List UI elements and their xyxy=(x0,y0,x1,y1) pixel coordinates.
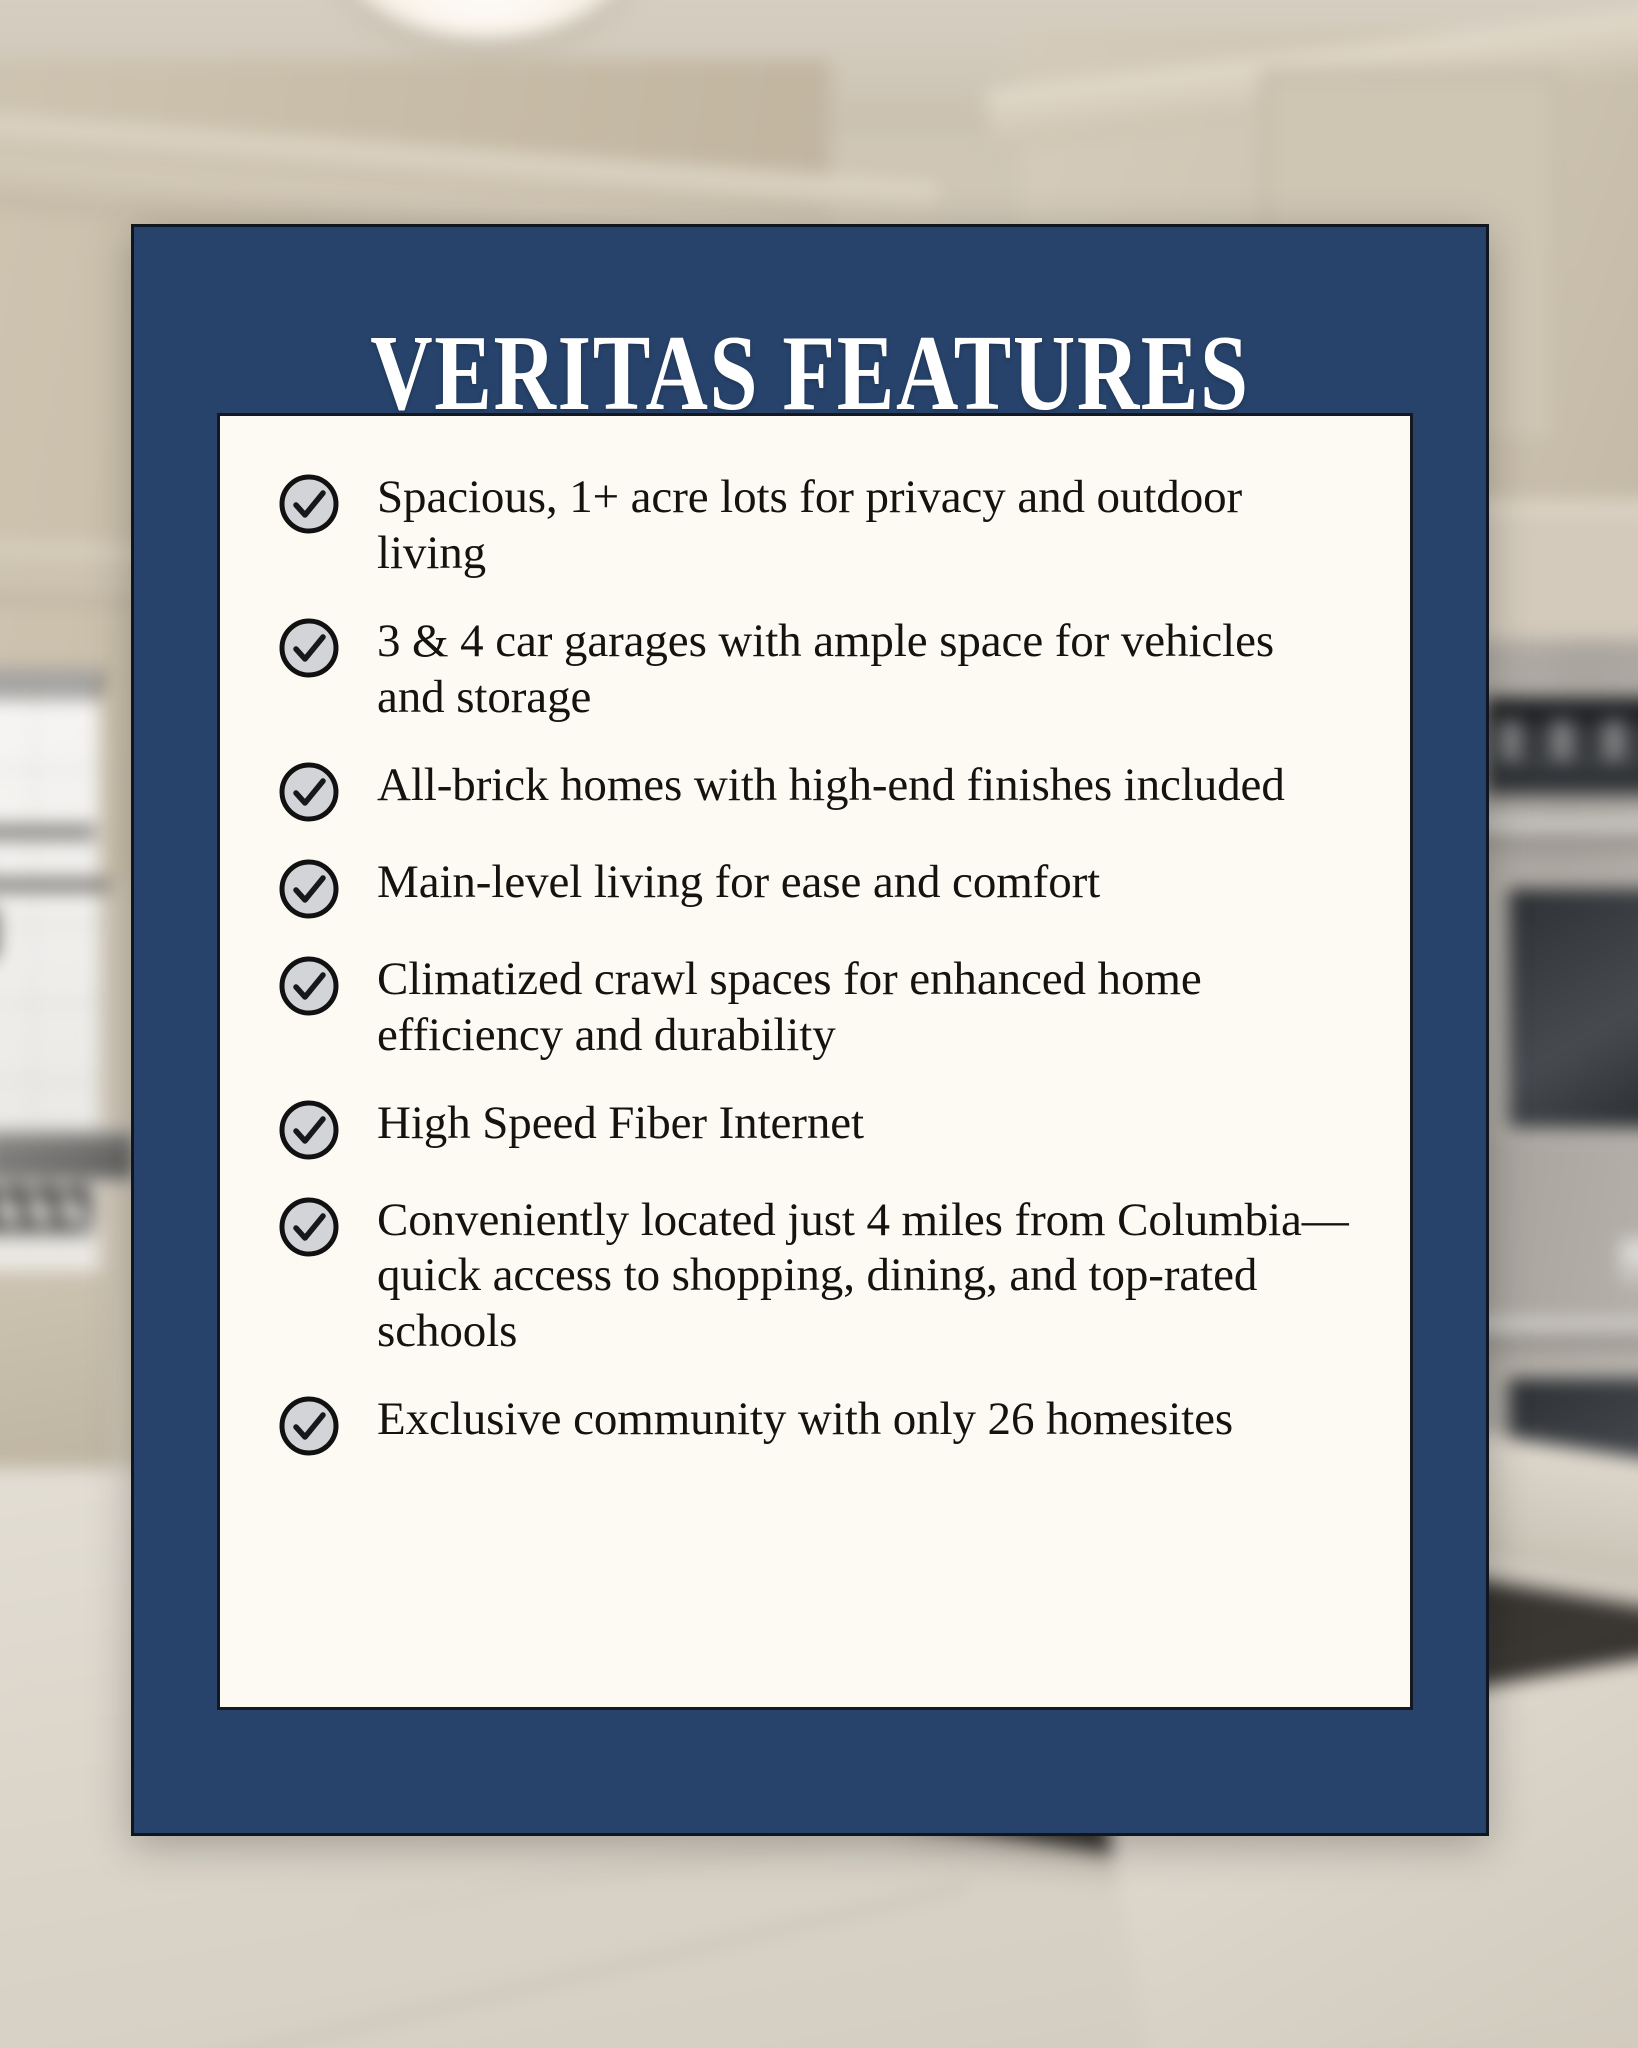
features-card: VERITAS FEATURES Spacious, 1+ acre lots … xyxy=(131,224,1489,1836)
oven-knob xyxy=(1620,1240,1638,1286)
list-item-label: All-brick homes with high-end finishes i… xyxy=(377,756,1285,814)
list-item-label: 3 & 4 car garages with ample space for v… xyxy=(377,612,1350,726)
check-circle-icon xyxy=(278,761,340,823)
list-item-label: High Speed Fiber Internet xyxy=(377,1094,864,1152)
list-item: Spacious, 1+ acre lots for privacy and o… xyxy=(278,468,1350,582)
list-item: Main-level living for ease and comfort xyxy=(278,853,1350,920)
list-item: Climatized crawl spaces for enhanced hom… xyxy=(278,950,1350,1064)
list-item-label: Main-level living for ease and comfort xyxy=(377,853,1100,911)
list-item: Conveniently located just 4 miles from C… xyxy=(278,1191,1350,1361)
poster-canvas: VERITAS FEATURES Spacious, 1+ acre lots … xyxy=(0,0,1638,2048)
check-circle-icon xyxy=(278,473,340,535)
feature-list: Spacious, 1+ acre lots for privacy and o… xyxy=(278,468,1350,1457)
features-panel: Spacious, 1+ acre lots for privacy and o… xyxy=(217,413,1413,1710)
check-circle-icon xyxy=(278,1395,340,1457)
oven-window-upper xyxy=(1500,880,1638,1136)
check-circle-icon xyxy=(278,617,340,679)
check-circle-icon xyxy=(278,955,340,1017)
list-item-label: Conveniently located just 4 miles from C… xyxy=(377,1191,1350,1361)
list-item-label: Exclusive community with only 26 homesit… xyxy=(377,1390,1233,1448)
cooktop-griddle xyxy=(0,1128,140,1184)
oven-control-panel xyxy=(1485,692,1638,795)
check-circle-icon xyxy=(278,858,340,920)
list-item: 3 & 4 car garages with ample space for v… xyxy=(278,612,1350,726)
check-circle-icon xyxy=(278,1099,340,1161)
pot-filler-arm-lower xyxy=(0,878,110,891)
pot-filler-arm-upper xyxy=(0,825,96,838)
lower-cabinet-left xyxy=(0,1270,110,1490)
list-item-label: Spacious, 1+ acre lots for privacy and o… xyxy=(377,468,1350,582)
list-item: High Speed Fiber Internet xyxy=(278,1094,1350,1161)
list-item: All-brick homes with high-end finishes i… xyxy=(278,756,1350,823)
list-item-label: Climatized crawl spaces for enhanced hom… xyxy=(377,950,1350,1064)
list-item: Exclusive community with only 26 homesit… xyxy=(278,1390,1350,1457)
subway-tile-backsplash xyxy=(0,700,100,1160)
check-circle-icon xyxy=(278,1196,340,1258)
